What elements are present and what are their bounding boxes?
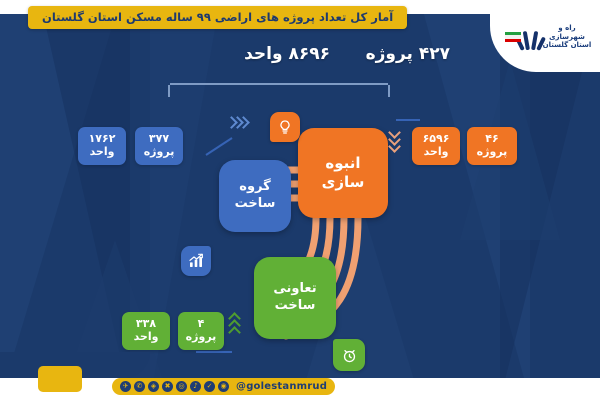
node-gorooh-sakht[interactable]: گروه ساخت	[219, 160, 291, 232]
node-taavoni-sakht[interactable]: تعاونی ساخت	[254, 257, 336, 339]
chip-anboh-sazi-units: ۶۵۹۶ واحد	[412, 127, 460, 165]
chip-gorooh-sakht-projects: ۳۷۷ پروژه	[135, 127, 183, 165]
whatsapp-icon[interactable]: ✆	[134, 381, 145, 392]
chip-gorooh-sakht-projects-label: پروژه	[144, 146, 175, 159]
bale-icon[interactable]: ♪	[190, 381, 201, 392]
chip-taavoni-sakht-projects: ۴ پروژه	[178, 312, 224, 350]
growth-chart-icon	[181, 246, 211, 276]
lightbulb-icon	[270, 112, 300, 142]
soroush-icon[interactable]: ◈	[148, 381, 159, 392]
node-gorooh-sakht-line1: گروه	[239, 179, 270, 196]
chevron-down-group-orange	[390, 128, 399, 149]
eitaa-icon[interactable]: ✖	[162, 381, 173, 392]
twitter-icon[interactable]: ✓	[204, 381, 215, 392]
node-taavoni-sakht-line1: تعاونی	[273, 281, 316, 298]
instagram-icon[interactable]: ◎	[176, 381, 187, 392]
chevron-up-group-green	[230, 314, 239, 335]
node-anboh-sazi-line1: انبوه	[325, 154, 360, 174]
chip-taavoni-sakht-projects-value: ۴ پروژه	[184, 318, 218, 343]
footer-yellow-tab	[38, 366, 82, 392]
social-handle[interactable]: @golestanmrud	[236, 381, 327, 392]
alarm-clock-icon	[333, 339, 365, 371]
chip-taavoni-sakht-units: ۳۳۸ واحد	[122, 312, 170, 350]
chip-anboh-sazi-projects-value: ۴۶ پروژه	[473, 133, 511, 158]
chip-gorooh-sakht-units: ۱۷۶۲ واحد	[78, 127, 126, 165]
social-bar[interactable]: ✈ ✆ ◈ ✖ ◎ ♪ ✓ ◉ @golestanmrud	[112, 378, 335, 395]
node-gorooh-sakht-line2: ساخت	[235, 196, 276, 213]
node-taavoni-sakht-line2: ساخت	[275, 298, 316, 315]
chip-anboh-sazi-projects: ۴۶ پروژه	[467, 127, 517, 165]
chip-taavoni-sakht-units-label: واحد	[134, 331, 159, 344]
telegram-icon[interactable]: ✈	[120, 381, 131, 392]
chevron-right-group-blue	[227, 118, 245, 127]
chip-anboh-sazi-units-label: واحد	[424, 146, 449, 159]
node-anboh-sazi[interactable]: انبوه سازی	[298, 128, 388, 218]
chip-gorooh-sakht-units-label: واحد	[90, 146, 115, 159]
node-anboh-sazi-line2: سازی	[322, 173, 365, 193]
infographic-poster: راه و شهرسازی استان گلستان آمار کل تعداد…	[0, 0, 600, 400]
aparat-icon[interactable]: ◉	[218, 381, 229, 392]
